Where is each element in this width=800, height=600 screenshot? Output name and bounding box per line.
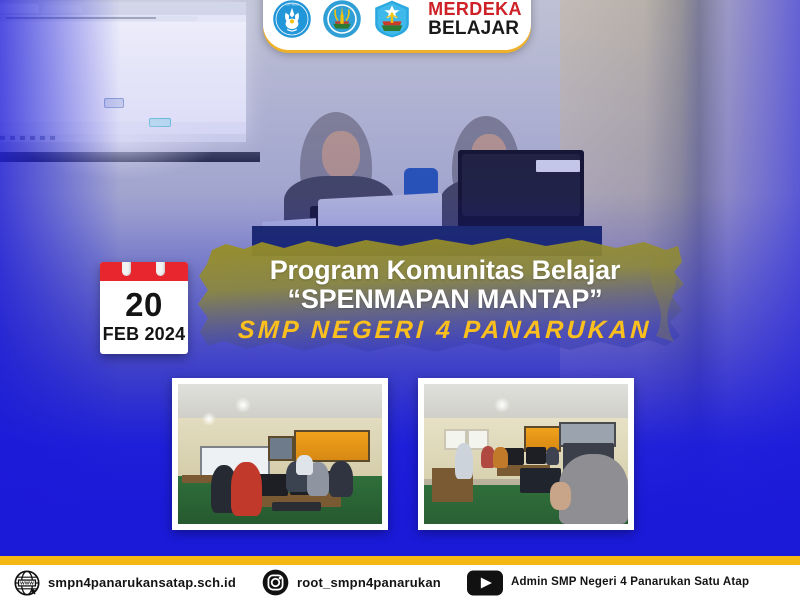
title-line-3-school: SMP NEGERI 4 PANARUKAN xyxy=(237,316,652,345)
footer-instagram[interactable]: root_smpn4panarukan xyxy=(262,569,441,596)
belajar-text: BELAJAR xyxy=(428,19,522,38)
footer-blue-strip xyxy=(0,548,800,556)
instagram-label: root_smpn4panarukan xyxy=(297,575,441,590)
footer-gold-strip xyxy=(0,556,800,565)
classroom-scene-right xyxy=(424,384,628,524)
footer-youtube[interactable]: Admin SMP Negeri 4 Panarukan Satu Atap xyxy=(467,570,749,596)
tut-wuri-handayani-logo: TUT WURI xyxy=(272,0,312,39)
website-label: smpn4panarukansatap.sch.id xyxy=(48,575,236,590)
title-line-1: Program Komunitas Belajar xyxy=(270,255,621,285)
merdeka-text: MERDEKA xyxy=(428,0,522,18)
merdeka-belajar-wordmark: MERDEKA BELAJAR xyxy=(428,0,522,38)
classroom-scene-left xyxy=(178,384,382,524)
calendar-ring-right xyxy=(156,262,165,276)
title-block: Program Komunitas Belajar “SPENMAPAN MAN… xyxy=(210,248,680,352)
calendar-header xyxy=(100,262,188,281)
calendar-month-year: FEB 2024 xyxy=(100,324,188,345)
footer-bar: WWW smpn4panarukansatap.sch.id root_smpn… xyxy=(0,565,800,600)
jawa-timur-logo xyxy=(372,0,412,39)
youtube-label: Admin SMP Negeri 4 Panarukan Satu Atap xyxy=(511,575,749,589)
kemendikbud-logo xyxy=(322,0,362,39)
svg-text:WWW: WWW xyxy=(20,580,34,586)
logo-badge: TUT WURI MERDEKA BELAJAR xyxy=(263,0,531,50)
svg-text:TUT WURI: TUT WURI xyxy=(285,2,299,6)
globe-www-icon: WWW xyxy=(14,570,40,596)
calendar-ring-left xyxy=(122,262,131,276)
photo-classroom-right xyxy=(418,378,634,530)
right-edge-fade xyxy=(680,0,800,556)
instagram-icon xyxy=(262,569,289,596)
poster-canvas: TUT WURI MERDEKA BELAJAR xyxy=(0,0,800,600)
title-line-2: “SPENMAPAN MANTAP” xyxy=(288,284,603,314)
footer-website[interactable]: WWW smpn4panarukansatap.sch.id xyxy=(14,570,236,596)
date-badge: 20 FEB 2024 xyxy=(100,262,188,354)
photo-classroom-left xyxy=(172,378,388,530)
youtube-icon xyxy=(467,570,503,596)
calendar-day: 20 xyxy=(100,286,188,324)
